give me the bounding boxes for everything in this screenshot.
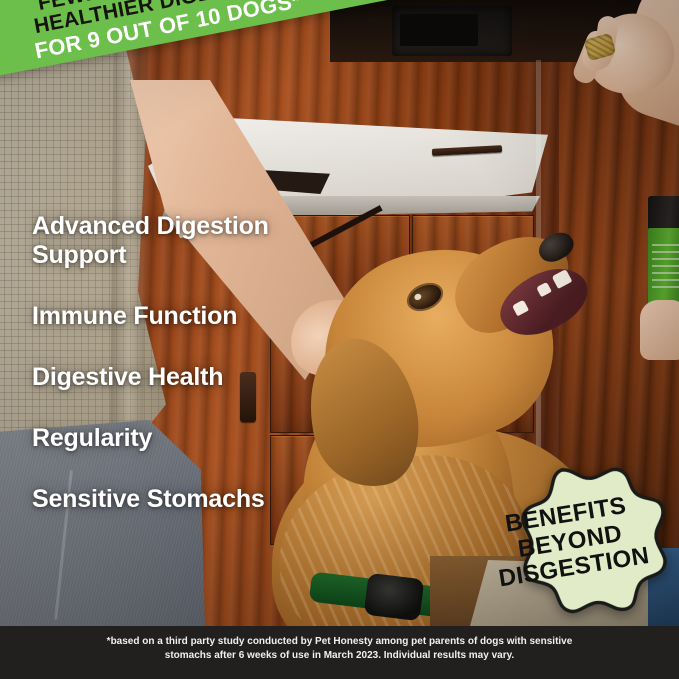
benefit-list: Advanced Digestion Support Immune Functi… bbox=[32, 212, 362, 546]
benefit-item: Digestive Health bbox=[32, 363, 362, 392]
product-bottle bbox=[648, 196, 679, 316]
footer-bar: *based on a third party study conducted … bbox=[0, 626, 679, 679]
benefit-item: Regularity bbox=[32, 424, 362, 453]
benefits-badge: BENEFITS BEYOND DISGESTION bbox=[462, 436, 678, 649]
hand-holding-bottle bbox=[640, 300, 679, 360]
hand-holding-treat bbox=[566, 0, 679, 166]
microwave-appliance bbox=[392, 6, 512, 56]
benefit-item: Sensitive Stomachs bbox=[32, 485, 362, 514]
ad-creative: FEWER TUMMY TROUBLES & HEALTHIER DIGESTI… bbox=[0, 0, 679, 679]
badge-text-block: BENEFITS BEYOND DISGESTION bbox=[456, 430, 679, 655]
bottle-cap bbox=[648, 196, 679, 230]
dog-collar-tag bbox=[364, 573, 425, 622]
benefit-item: Advanced Digestion Support bbox=[32, 212, 362, 270]
disclaimer-text: *based on a third party study conducted … bbox=[0, 635, 679, 662]
benefit-item: Immune Function bbox=[32, 302, 362, 331]
bottle-label-text-lines bbox=[652, 244, 679, 288]
microwave-door bbox=[400, 14, 478, 46]
